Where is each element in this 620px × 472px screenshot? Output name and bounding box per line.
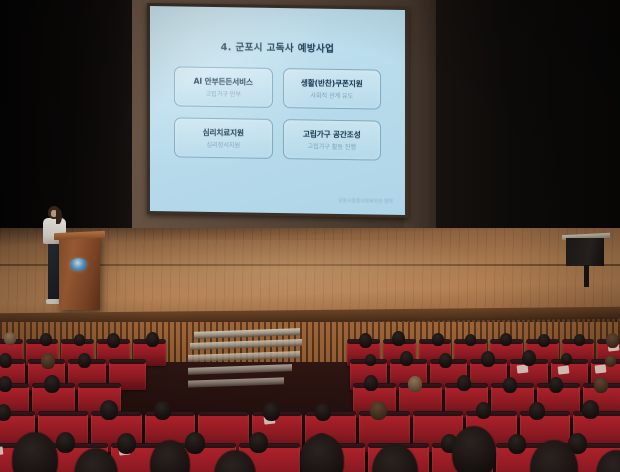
audience-member: [4, 332, 16, 345]
audience-member: [500, 333, 512, 346]
slide-box-title: 고립가구 공간조성: [303, 128, 361, 140]
audience-seating: [0, 322, 620, 472]
audience-member: [476, 402, 491, 419]
audience-member: [74, 334, 85, 346]
audience-member: [56, 432, 75, 453]
audience-member: [392, 331, 405, 346]
side-table-leg: [584, 265, 589, 287]
audience-member: [117, 433, 136, 454]
audience-member: [146, 332, 159, 347]
audience-member: [503, 377, 517, 393]
audience-member: [78, 353, 91, 368]
audience-member: [185, 432, 205, 454]
city-emblem-icon: [70, 258, 87, 271]
slide-box: 고립가구 공간조성 고립가구 활동 진행: [283, 119, 382, 161]
handout-paper: [558, 365, 570, 374]
audience-member: [549, 377, 563, 393]
audience-member: [263, 402, 280, 421]
audience-member: [0, 404, 11, 421]
slide-box: AI 안부든든서비스 고립가구 안부: [174, 66, 273, 108]
audience-member: [100, 400, 118, 420]
audience-member: [481, 351, 495, 367]
audience-member: [0, 376, 12, 392]
slide-box-subtitle: 심리정서지원: [206, 140, 240, 150]
audience-member: [561, 353, 572, 365]
audience-member: [365, 354, 376, 366]
audience-member: [44, 375, 60, 393]
audience-member: [432, 333, 444, 346]
stage-curtain-right: [436, 0, 620, 262]
slide-box: 심리치료지원 심리정서지원: [174, 117, 273, 159]
audience-member: [465, 334, 476, 346]
slide-title: 4. 군포시 고독사 예방사업: [150, 38, 405, 56]
auditorium-photo: 4. 군포시 고독사 예방사업 AI 안부든든서비스 고립가구 안부 생활(반찬…: [0, 0, 620, 472]
handout-paper: [595, 365, 607, 374]
audience-member: [605, 355, 616, 367]
audience-member: [400, 351, 413, 366]
audience-member: [370, 401, 387, 420]
projected-slide: 4. 군포시 고독사 예방사업 AI 안부든든서비스 고립가구 안부 생활(반찬…: [150, 6, 405, 215]
audience-member: [154, 401, 171, 420]
side-table: [566, 238, 604, 266]
handout-paper: [0, 447, 3, 456]
audience-member: [315, 403, 331, 421]
slide-box-title: 생활(반찬)쿠폰지원: [301, 77, 363, 89]
audience-member: [41, 353, 55, 369]
slide-box-title: AI 안부든든서비스: [194, 76, 253, 88]
slide-box-subtitle: 사회적 관계 유도: [310, 91, 353, 101]
audience-member: [0, 353, 12, 368]
audience-member: [606, 333, 619, 348]
podium: [59, 236, 100, 310]
audience-member: [359, 333, 372, 348]
slide-footer: 군포시종합사회복지관 협력: [338, 198, 393, 205]
audience-member: [538, 334, 550, 347]
slide-box-grid: AI 안부든든서비스 고립가구 안부 생활(반찬)쿠폰지원 사회적 관계 유도 …: [174, 66, 381, 160]
audience-member: [574, 334, 585, 346]
audience-member: [457, 375, 471, 391]
audience-member: [249, 432, 268, 453]
audience-member: [408, 376, 422, 392]
audience-member: [529, 402, 545, 420]
audience-member: [40, 333, 52, 346]
slide-box: 생활(반찬)쿠폰지원 사회적 관계 유도: [283, 68, 382, 110]
audience-member: [594, 377, 608, 393]
slide-box-subtitle: 고립가구 활동 진행: [308, 141, 356, 151]
audience-member: [107, 333, 120, 348]
audience-member: [508, 434, 526, 454]
aisle-step: [194, 328, 300, 339]
audience-member: [439, 353, 452, 368]
slide-box-subtitle: 고립가구 안부: [206, 89, 241, 99]
audience-member: [522, 350, 536, 366]
slide-box-title: 심리치료지원: [203, 127, 244, 139]
audience-member: [582, 400, 599, 419]
audience-member-foreground: [452, 426, 496, 472]
audience-member: [364, 375, 378, 391]
